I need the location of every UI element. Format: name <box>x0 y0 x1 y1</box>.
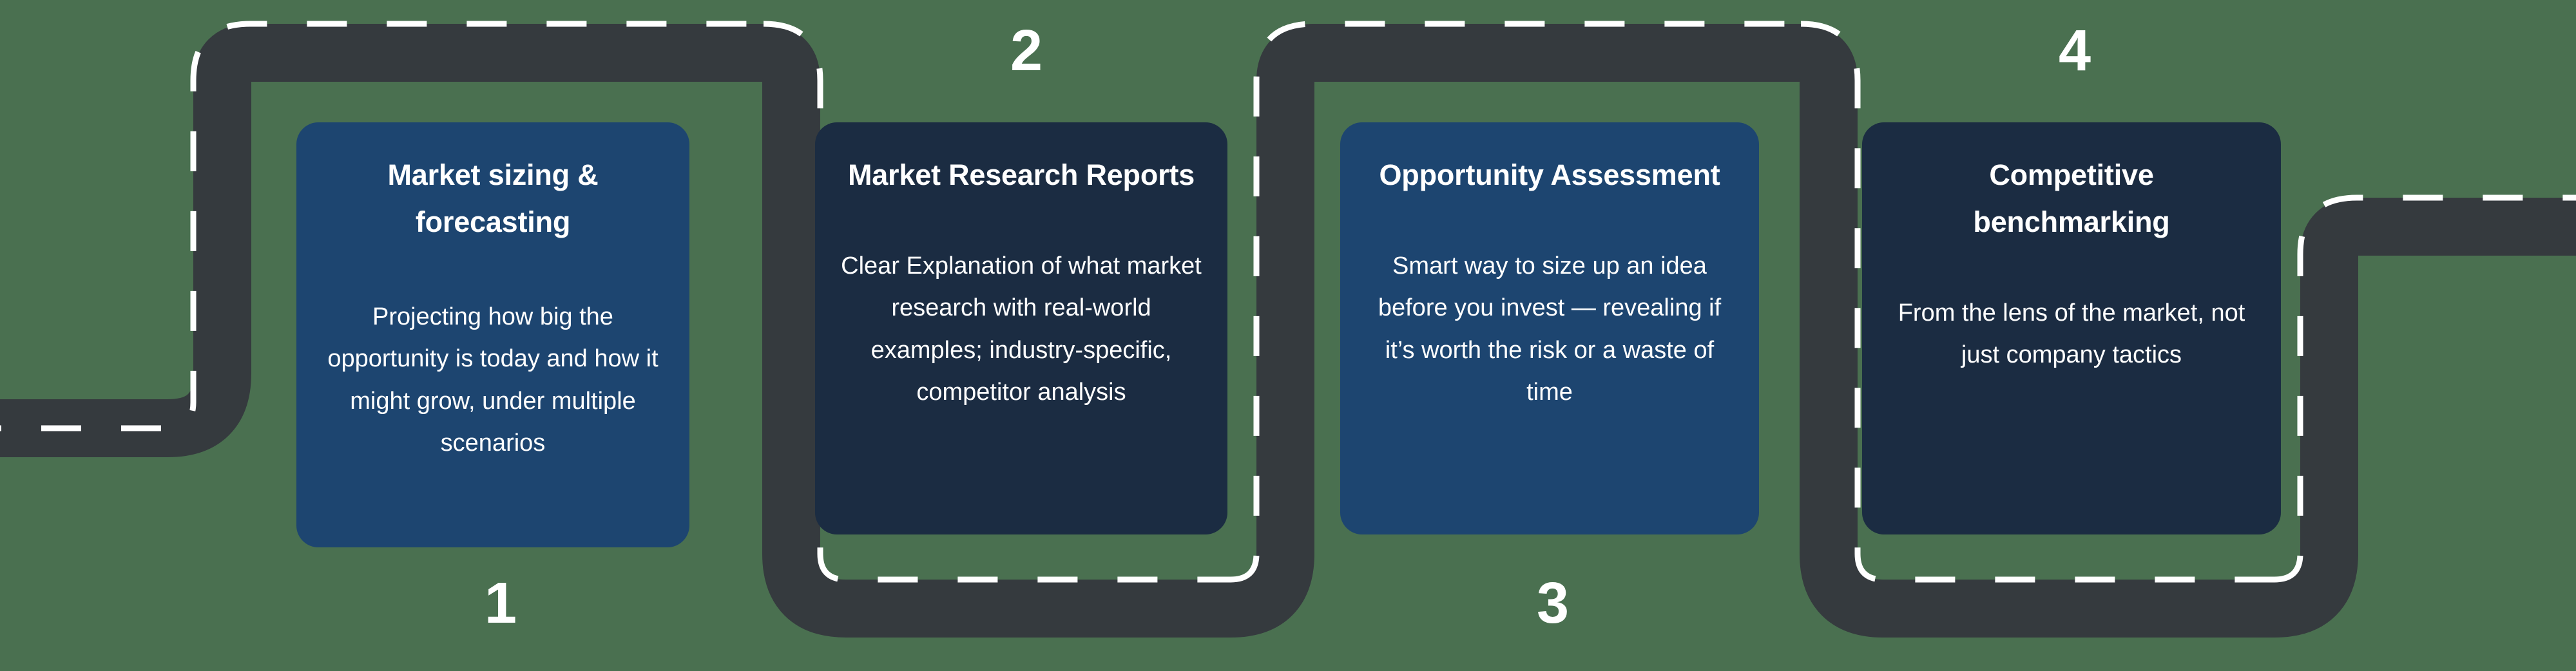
step-card-1-title: Market sizing & forecasting <box>322 152 664 246</box>
step-card-4[interactable]: Competitive benchmarking From the lens o… <box>1862 122 2281 534</box>
step-number-2: 2 <box>1010 22 1043 80</box>
step-card-3-body: Smart way to size up an idea before you … <box>1366 245 1733 413</box>
step-card-4-title: Competitive benchmarking <box>1888 152 2255 246</box>
step-card-1-body: Projecting how big the opportunity is to… <box>322 296 664 464</box>
step-card-4-body: From the lens of the market, not just co… <box>1888 292 2255 377</box>
step-card-3-title: Opportunity Assessment <box>1366 152 1733 199</box>
step-card-2-body: Clear Explanation of what market researc… <box>841 245 1202 413</box>
step-card-2[interactable]: Market Research Reports Clear Explanatio… <box>815 122 1227 534</box>
step-number-4: 4 <box>2059 22 2091 80</box>
step-number-3: 3 <box>1537 574 1569 632</box>
step-card-1[interactable]: Market sizing & forecasting Projecting h… <box>296 122 689 547</box>
step-card-3[interactable]: Opportunity Assessment Smart way to size… <box>1340 122 1759 534</box>
step-number-1: 1 <box>485 574 517 632</box>
step-card-2-title: Market Research Reports <box>841 152 1202 199</box>
roadmap-canvas: Market sizing & forecasting Projecting h… <box>0 0 2576 671</box>
